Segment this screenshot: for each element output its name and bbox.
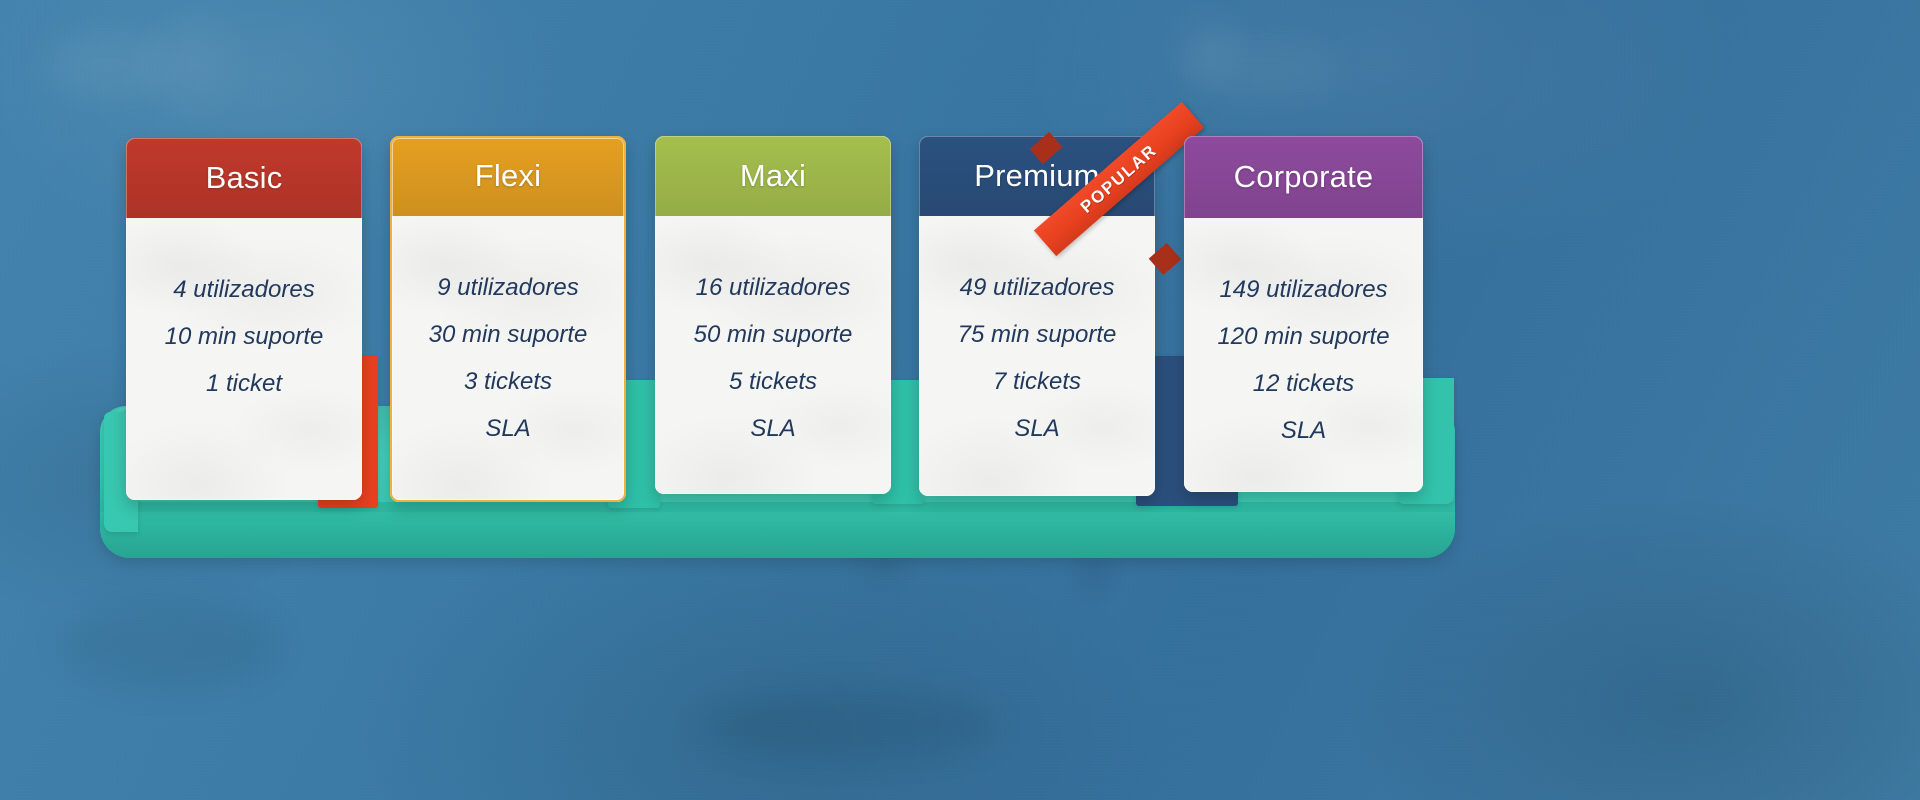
feature-item: 30 min suporte bbox=[429, 323, 588, 347]
feature-item: 7 tickets bbox=[993, 370, 1081, 394]
feature-item: SLA bbox=[1281, 419, 1326, 443]
card-paper-texture bbox=[655, 216, 891, 494]
card-paper-texture bbox=[1184, 218, 1423, 492]
pricing-card-premium[interactable]: Premium49 utilizadores75 min suporte7 ti… bbox=[919, 136, 1155, 496]
pricing-card-maxi[interactable]: Maxi16 utilizadores50 min suporte5 ticke… bbox=[655, 136, 891, 494]
feature-item: 120 min suporte bbox=[1217, 325, 1389, 349]
background-blotch-2 bbox=[1180, 40, 1340, 100]
feature-item: SLA bbox=[485, 417, 530, 441]
pricing-card-features: 16 utilizadores50 min suporte5 ticketsSL… bbox=[655, 216, 891, 494]
pricing-card-inner: Premium49 utilizadores75 min suporte7 ti… bbox=[919, 136, 1155, 496]
pricing-card-flexi[interactable]: Flexi9 utilizadores30 min suporte3 ticke… bbox=[390, 136, 626, 502]
feature-item: 9 utilizadores bbox=[437, 276, 578, 300]
plan-title: Corporate bbox=[1234, 159, 1374, 195]
pricing-card-header-corporate: Corporate bbox=[1184, 136, 1423, 218]
card-paper-texture bbox=[126, 218, 362, 500]
pricing-card-inner: Basic4 utilizadores10 min suporte1 ticke… bbox=[126, 138, 362, 500]
feature-item: 16 utilizadores bbox=[696, 276, 851, 300]
feature-item: 10 min suporte bbox=[165, 325, 324, 349]
feature-item: 5 tickets bbox=[729, 370, 817, 394]
pricing-card-features: 149 utilizadores120 min suporte12 ticket… bbox=[1184, 218, 1423, 492]
feature-item: 50 min suporte bbox=[694, 323, 853, 347]
background-blotch-3 bbox=[700, 690, 1000, 760]
feature-item: 75 min suporte bbox=[958, 323, 1117, 347]
feature-item: SLA bbox=[750, 417, 795, 441]
pricing-card-features: 9 utilizadores30 min suporte3 ticketsSLA bbox=[390, 216, 626, 502]
pricing-card-inner: Maxi16 utilizadores50 min suporte5 ticke… bbox=[655, 136, 891, 494]
feature-item: SLA bbox=[1014, 417, 1059, 441]
pricing-card-features: 4 utilizadores10 min suporte1 ticket bbox=[126, 218, 362, 500]
background-blotch-4 bbox=[60, 600, 280, 690]
card-paper-texture bbox=[919, 216, 1155, 496]
feature-item: 149 utilizadores bbox=[1219, 278, 1387, 302]
feature-item: 3 tickets bbox=[464, 370, 552, 394]
plan-title: Premium bbox=[974, 158, 1099, 194]
plan-title: Flexi bbox=[475, 158, 541, 194]
plan-title: Basic bbox=[206, 160, 283, 196]
pricing-card-header-basic: Basic bbox=[126, 138, 362, 218]
feature-item: 49 utilizadores bbox=[960, 276, 1115, 300]
shelf-tray-lip bbox=[100, 512, 1455, 558]
pricing-card-corporate[interactable]: Corporate149 utilizadores120 min suporte… bbox=[1184, 136, 1423, 492]
pricing-card-header-flexi: Flexi bbox=[390, 136, 626, 216]
pricing-card-inner: Corporate149 utilizadores120 min suporte… bbox=[1184, 136, 1423, 492]
pricing-card-features: 49 utilizadores75 min suporte7 ticketsSL… bbox=[919, 216, 1155, 496]
feature-item: 12 tickets bbox=[1253, 372, 1354, 396]
pricing-card-basic[interactable]: Basic4 utilizadores10 min suporte1 ticke… bbox=[126, 138, 362, 500]
feature-item: 4 utilizadores bbox=[173, 278, 314, 302]
plan-title: Maxi bbox=[740, 158, 806, 194]
pricing-table-scene: Basic4 utilizadores10 min suporte1 ticke… bbox=[0, 0, 1920, 800]
pricing-card-inner: Flexi9 utilizadores30 min suporte3 ticke… bbox=[390, 136, 626, 502]
pricing-card-header-maxi: Maxi bbox=[655, 136, 891, 216]
background-blotch-1 bbox=[40, 30, 170, 100]
feature-item: 1 ticket bbox=[206, 372, 282, 396]
pricing-card-header-premium: Premium bbox=[919, 136, 1155, 216]
card-paper-texture bbox=[390, 216, 626, 502]
